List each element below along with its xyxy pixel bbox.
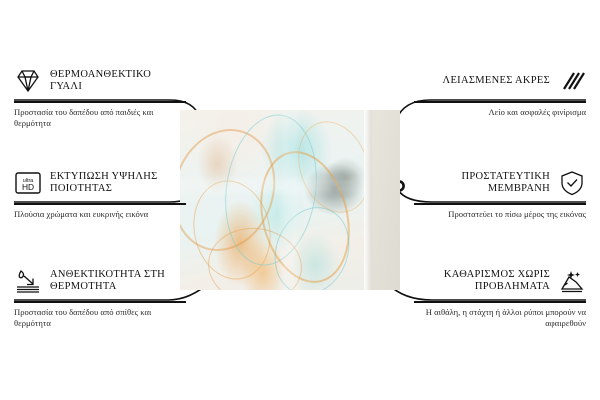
polished-edges-icon bbox=[558, 68, 586, 94]
feature-subtitle: Προστατεύει το πίσω μέρος της εικόνας bbox=[414, 209, 586, 220]
feature-easy-cleaning: ΚΑΘΑΡΙΣΜΟΣ ΧΩΡΙΣ ΠΡΟΒΛΗΜΑΤΑ Η αιθάλη, η … bbox=[414, 264, 586, 329]
feature-subtitle: Προστασία του δαπέδου από σπίθες και θερ… bbox=[14, 307, 186, 329]
divider bbox=[414, 203, 586, 205]
easy-cleaning-icon bbox=[558, 268, 586, 294]
ultra-hd-icon: ultra HD bbox=[14, 170, 42, 196]
feature-title: ΚΑΘΑΡΙΣΜΟΣ ΧΩΡΙΣ ΠΡΟΒΛΗΜΑΤΑ bbox=[414, 269, 550, 294]
feature-protective-film: ΠΡΟΣΤΑΤΕΥΤΙΚΗ ΜΕΜΒΡΑΝΗ Προστατεύει το πί… bbox=[414, 166, 586, 220]
feature-subtitle: Λείο και ασφαλές φινίρισμα bbox=[414, 107, 586, 118]
marble-artwork bbox=[180, 110, 368, 290]
feature-title: ΕΚΤΥΠΩΣΗ ΥΨΗΛΗΣ ΠΟΙΟΤΗΤΑΣ bbox=[50, 171, 186, 196]
divider bbox=[414, 301, 586, 303]
diamond-icon bbox=[14, 68, 42, 94]
feature-high-quality-print: ultra HD ΕΚΤΥΠΩΣΗ ΥΨΗΛΗΣ ΠΟΙΟΤΗΤΑΣ Πλούσ… bbox=[14, 166, 186, 220]
divider bbox=[414, 101, 586, 103]
infographic-canvas: ΘΕΡΜΟΑΝΘΕΚΤΙΚΟ ΓΥΑΛΙ Προστασία του δαπέδ… bbox=[0, 0, 600, 400]
glass-reflection bbox=[180, 110, 368, 290]
shield-check-icon bbox=[558, 170, 586, 196]
feature-title: ΠΡΟΣΤΑΤΕΥΤΙΚΗ ΜΕΜΒΡΑΝΗ bbox=[414, 171, 550, 196]
divider bbox=[14, 101, 186, 103]
feature-title: ΛΕΙΑΣΜΕΝΕΣ ΑΚΡΕΣ bbox=[443, 75, 550, 88]
feature-heat-resistant-glass: ΘΕΡΜΟΑΝΘΕΚΤΙΚΟ ΓΥΑΛΙ Προστασία του δαπέδ… bbox=[14, 64, 186, 129]
feature-heat-durability: ΑΝΘΕΚΤΙΚΟΤΗΤΑ ΣΤΗ ΘΕΡΜΟΤΗΤΑ Προστασία το… bbox=[14, 264, 186, 329]
feature-subtitle: Η αιθάλη, η στάχτη ή άλλοι ρύποι μπορούν… bbox=[414, 307, 586, 329]
feature-subtitle: Προστασία του δαπέδου από παιδιές και θε… bbox=[14, 107, 186, 129]
divider bbox=[14, 301, 186, 303]
feature-subtitle: Πλούσια χρώματα και ευκρινής εικόνα bbox=[14, 209, 186, 220]
feature-polished-edges: ΛΕΙΑΣΜΕΝΕΣ ΑΚΡΕΣ Λείο και ασφαλές φινίρι… bbox=[414, 64, 586, 118]
svg-text:HD: HD bbox=[22, 182, 34, 192]
heat-resistance-icon bbox=[14, 268, 42, 294]
divider bbox=[14, 203, 186, 205]
feature-title: ΑΝΘΕΚΤΙΚΟΤΗΤΑ ΣΤΗ ΘΕΡΜΟΤΗΤΑ bbox=[50, 269, 186, 294]
feature-title: ΘΕΡΜΟΑΝΘΕΚΤΙΚΟ ΓΥΑΛΙ bbox=[50, 69, 186, 94]
glass-panel-edge bbox=[364, 110, 372, 290]
product-image bbox=[180, 110, 400, 290]
